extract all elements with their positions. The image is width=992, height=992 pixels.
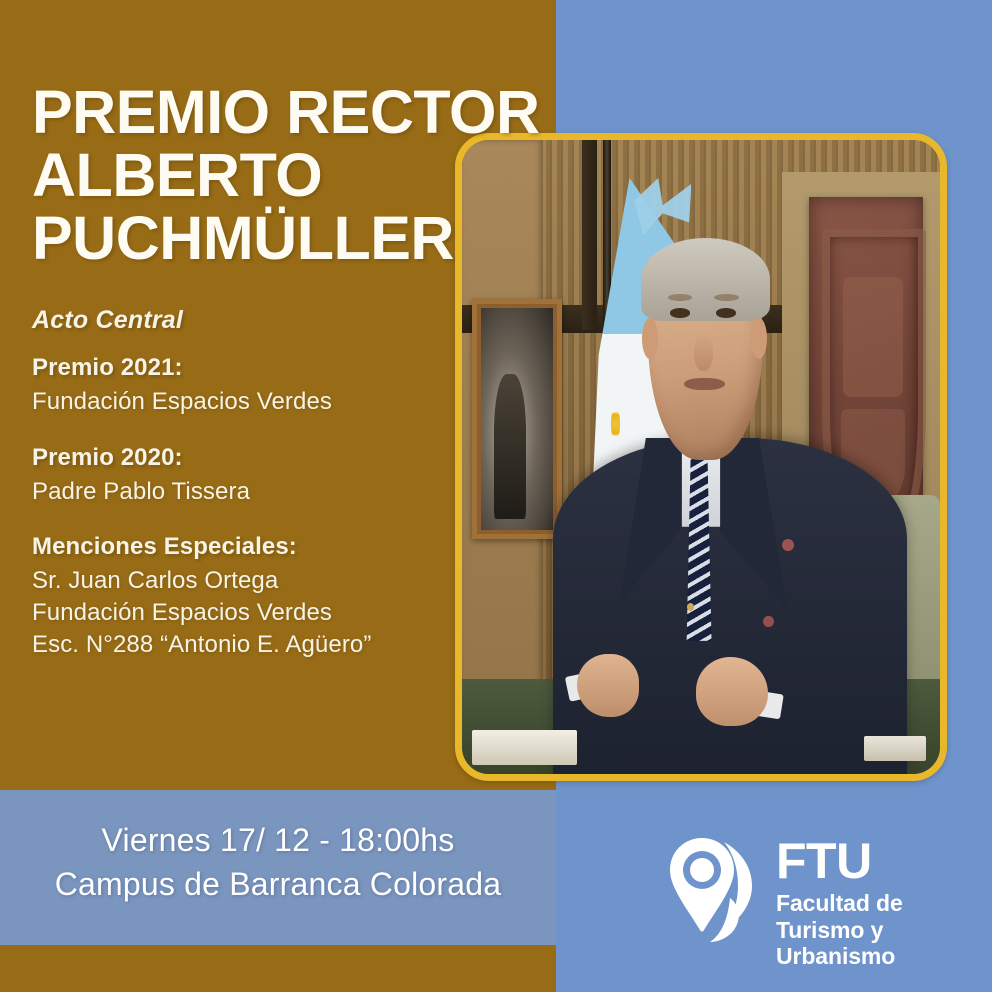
award-block-menciones: Menciones Especiales: Sr. Juan Carlos Or… (32, 533, 502, 660)
award-recipient: Fundación Espacios Verdes (32, 386, 502, 418)
man-eye-right (716, 308, 736, 318)
award-block-2021: Premio 2021: Fundación Espacios Verdes (32, 354, 502, 418)
ftu-acronym: FTU (776, 836, 903, 886)
title-line-2: ALBERTO (32, 144, 592, 207)
award-recipient: Sr. Juan Carlos Ortega (32, 565, 502, 597)
man-mouth (684, 378, 725, 391)
event-venue: Campus de Barranca Colorada (0, 862, 556, 906)
man-eyebrow-left (668, 294, 693, 301)
award-heading: Premio 2020: (32, 444, 502, 472)
award-recipient: Padre Pablo Tissera (32, 476, 502, 508)
ftu-subtitle-line-3: Urbanismo (776, 943, 903, 970)
man-ear-left (642, 318, 658, 359)
poster-canvas: PREMIO RECTOR ALBERTO PUCHMÜLLER Acto Ce… (0, 0, 992, 992)
desk-paper-right (864, 736, 926, 761)
award-block-2020: Premio 2020: Padre Pablo Tissera (32, 444, 502, 508)
man-hair (641, 238, 770, 320)
man-ear-right (751, 318, 767, 359)
page-title: PREMIO RECTOR ALBERTO PUCHMÜLLER (32, 81, 592, 269)
ftu-subtitle-line-2: Turismo y (776, 917, 903, 944)
man-hand-left (577, 654, 639, 717)
event-details: Viernes 17/ 12 - 18:00hs Campus de Barra… (0, 818, 556, 906)
man-nose (694, 333, 713, 371)
awards-list: Acto Central Premio 2021: Fundación Espa… (32, 306, 502, 660)
plaque-carving-upper (843, 277, 903, 397)
man-eye-left (670, 308, 690, 318)
award-heading: Menciones Especiales: (32, 533, 502, 561)
ftu-logo: FTU Facultad de Turismo y Urbanismo (668, 836, 903, 970)
flag-sun-icon (611, 407, 620, 441)
title-line-1: PREMIO RECTOR (32, 81, 592, 144)
background-gold-footer-bar (0, 945, 556, 992)
subtitle-acto-central: Acto Central (32, 306, 502, 335)
award-heading: Premio 2021: (32, 354, 502, 382)
award-recipient: Esc. N°288 “Antonio E. Agüero” (32, 629, 502, 661)
title-line-3: PUCHMÜLLER (32, 207, 592, 270)
location-pin-icon (668, 836, 760, 946)
desk-paper-left (472, 730, 577, 765)
suit-button-lower (763, 616, 774, 627)
man-hand-right (696, 657, 768, 727)
ftu-subtitle-line-1: Facultad de (776, 890, 903, 917)
ftu-logo-text: FTU Facultad de Turismo y Urbanismo (776, 836, 903, 970)
award-recipient: Fundación Espacios Verdes (32, 597, 502, 629)
event-datetime: Viernes 17/ 12 - 18:00hs (0, 818, 556, 862)
